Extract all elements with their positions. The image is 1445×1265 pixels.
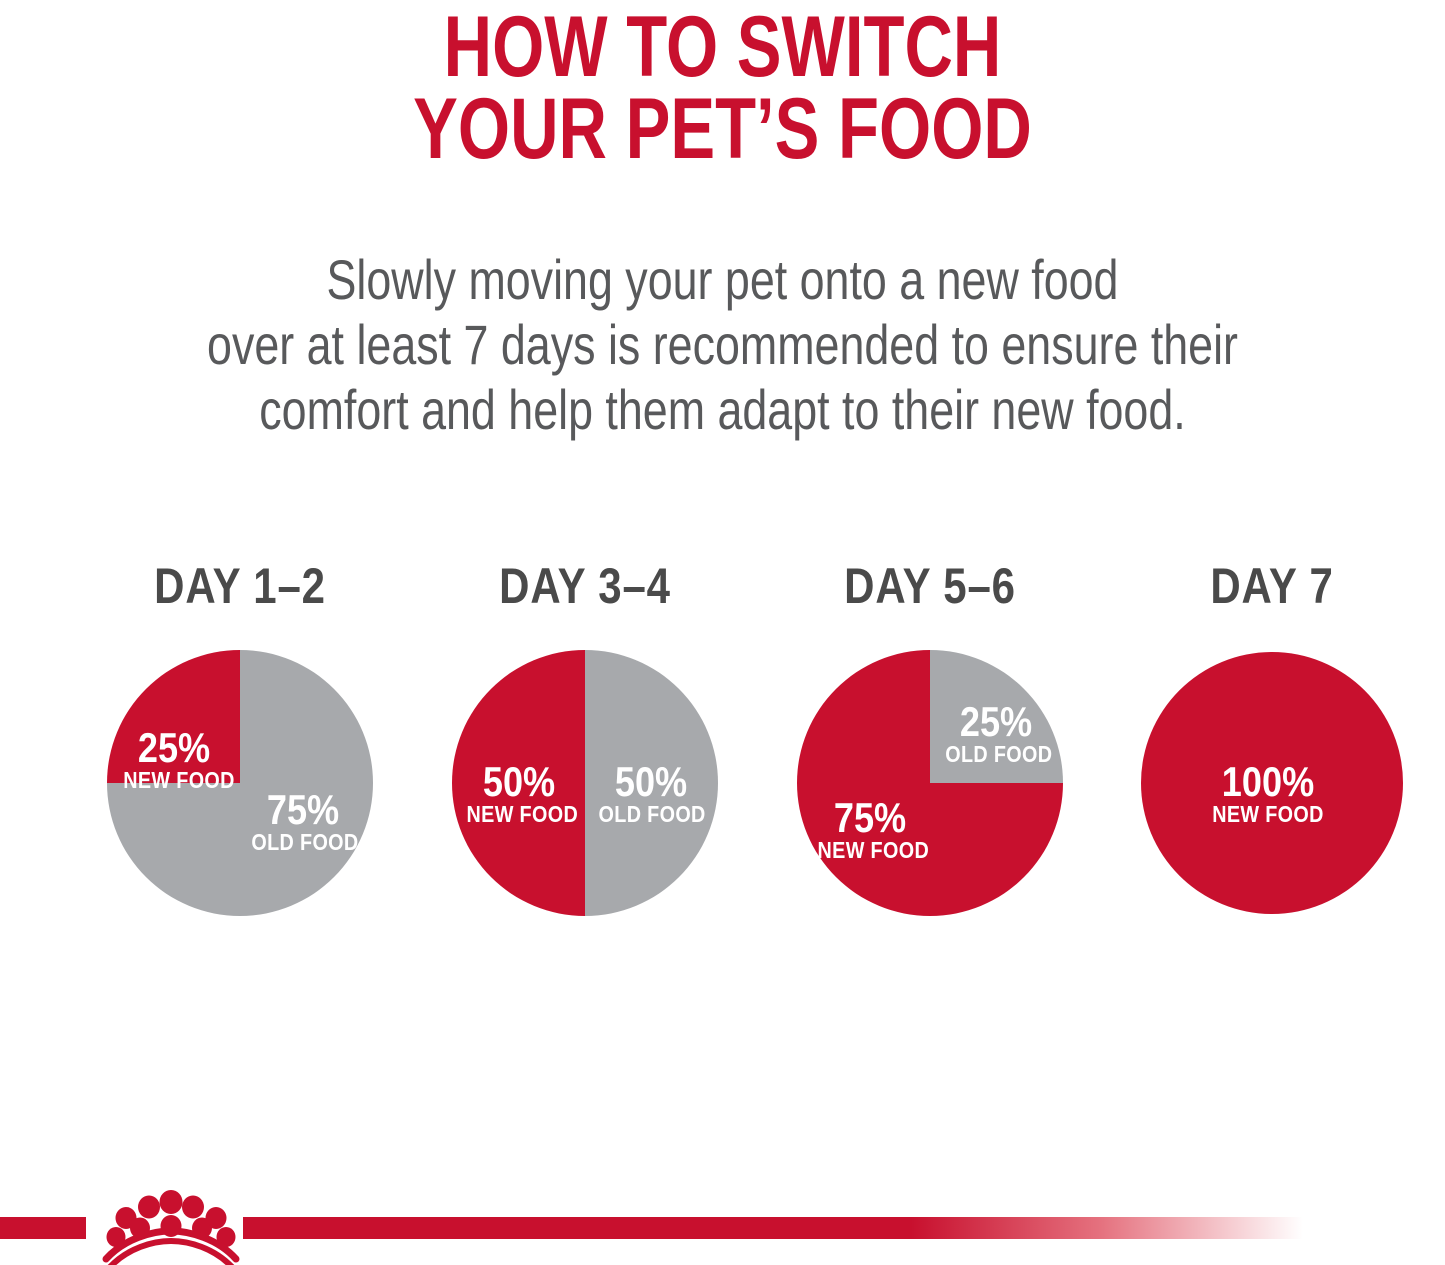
pie-chart-day-3-4: DAY 3–4 50% NEW FOOD 50% OLD FOOD — [435, 560, 735, 960]
page-title: HOW TO SWITCH YOUR PET’S FOOD — [159, 6, 1286, 170]
page-title-line-1: HOW TO SWITCH — [159, 6, 1286, 88]
pie-chart-day-7-graphic: 100% NEW FOOD — [1139, 650, 1405, 916]
footer-rule-left — [0, 1217, 86, 1239]
slice-old-food — [930, 650, 1063, 783]
page-subtitle-line-3: comfort and help them adapt to their new… — [145, 377, 1301, 442]
slice-new-food — [107, 650, 240, 783]
pie-chart-day-1-2-title: DAY 1–2 — [114, 560, 366, 612]
pie-chart-day-5-6-graphic: 25% OLD FOOD 75% NEW FOOD — [797, 650, 1063, 916]
page-subtitle: Slowly moving your pet onto a new food o… — [145, 247, 1301, 442]
pie-chart-day-3-4-graphic: 50% NEW FOOD 50% OLD FOOD — [452, 650, 718, 916]
footer-rule-right — [243, 1217, 1303, 1239]
pie-chart-day-7-title: DAY 7 — [1146, 560, 1398, 612]
pie-chart-day-1-2: DAY 1–2 25% NEW FOOD 75% OLD FOOD — [90, 560, 390, 960]
pie-chart-day-5-6-title: DAY 5–6 — [804, 560, 1056, 612]
pie-chart-row: DAY 1–2 25% NEW FOOD 75% OLD FOOD DAY 3–… — [0, 560, 1445, 960]
pie-chart-day-3-4-title: DAY 3–4 — [459, 560, 711, 612]
slice-new-food — [452, 650, 585, 916]
royal-canin-crown-icon — [96, 1185, 246, 1265]
slice-new-food — [1141, 652, 1403, 914]
pie-chart-day-1-2-graphic: 25% NEW FOOD 75% OLD FOOD — [107, 650, 373, 916]
footer-band — [0, 1160, 1445, 1265]
page-subtitle-line-1: Slowly moving your pet onto a new food — [145, 247, 1301, 312]
slice-old-food — [585, 650, 718, 916]
pie-chart-day-7: DAY 7 100% NEW FOOD — [1122, 560, 1422, 960]
pie-chart-day-5-6: DAY 5–6 25% OLD FOOD 75% NEW FOOD — [780, 560, 1080, 960]
page-subtitle-line-2: over at least 7 days is recommended to e… — [145, 312, 1301, 377]
page-title-line-2: YOUR PET’S FOOD — [159, 88, 1286, 170]
